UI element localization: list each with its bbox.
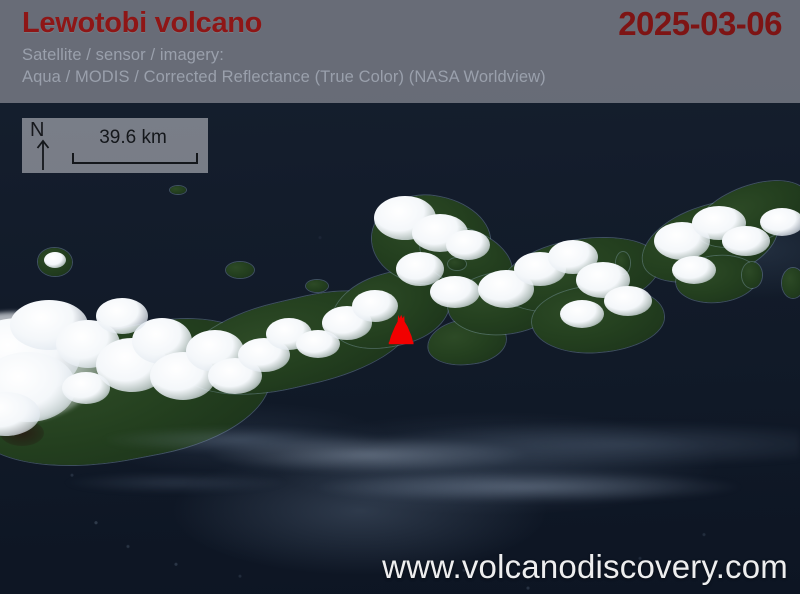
island-islet-west (38, 248, 72, 276)
island-islet-pantar-w (616, 252, 630, 274)
north-indicator: N (22, 118, 66, 173)
north-arrow-icon (36, 138, 50, 170)
subtitle-block: Satellite / sensor / imagery: Aqua / MOD… (22, 44, 786, 88)
island-islet-center (226, 262, 254, 278)
island-islet-east (306, 280, 328, 292)
page-title: Lewotobi volcano (22, 6, 262, 40)
subtitle-label: Satellite / sensor / imagery: (22, 44, 786, 66)
image-date: 2025-03-06 (618, 6, 786, 42)
scale-bar-group: 39.6 km (66, 118, 208, 173)
site-watermark: www.volcanodiscovery.com (382, 548, 788, 586)
scale-distance-label: 39.6 km (66, 127, 200, 149)
header-top-row: Lewotobi volcano 2025-03-06 (22, 6, 786, 42)
island-islet-north (170, 186, 186, 194)
scale-bar-ruler (72, 153, 198, 164)
island-islet-lembata-w (448, 258, 466, 270)
scale-and-north-overlay: N 39.6 km (22, 118, 208, 173)
volcano-marker-icon[interactable] (388, 314, 414, 346)
header-bar: Lewotobi volcano 2025-03-06 Satellite / … (0, 0, 800, 103)
island-islet-far-east (782, 268, 800, 298)
volcano-satellite-image-viewer: Lewotobi volcano 2025-03-06 Satellite / … (0, 0, 800, 594)
island-islet-alor-e (742, 262, 762, 288)
subtitle-value: Aqua / MODIS / Corrected Reflectance (Tr… (22, 66, 786, 88)
